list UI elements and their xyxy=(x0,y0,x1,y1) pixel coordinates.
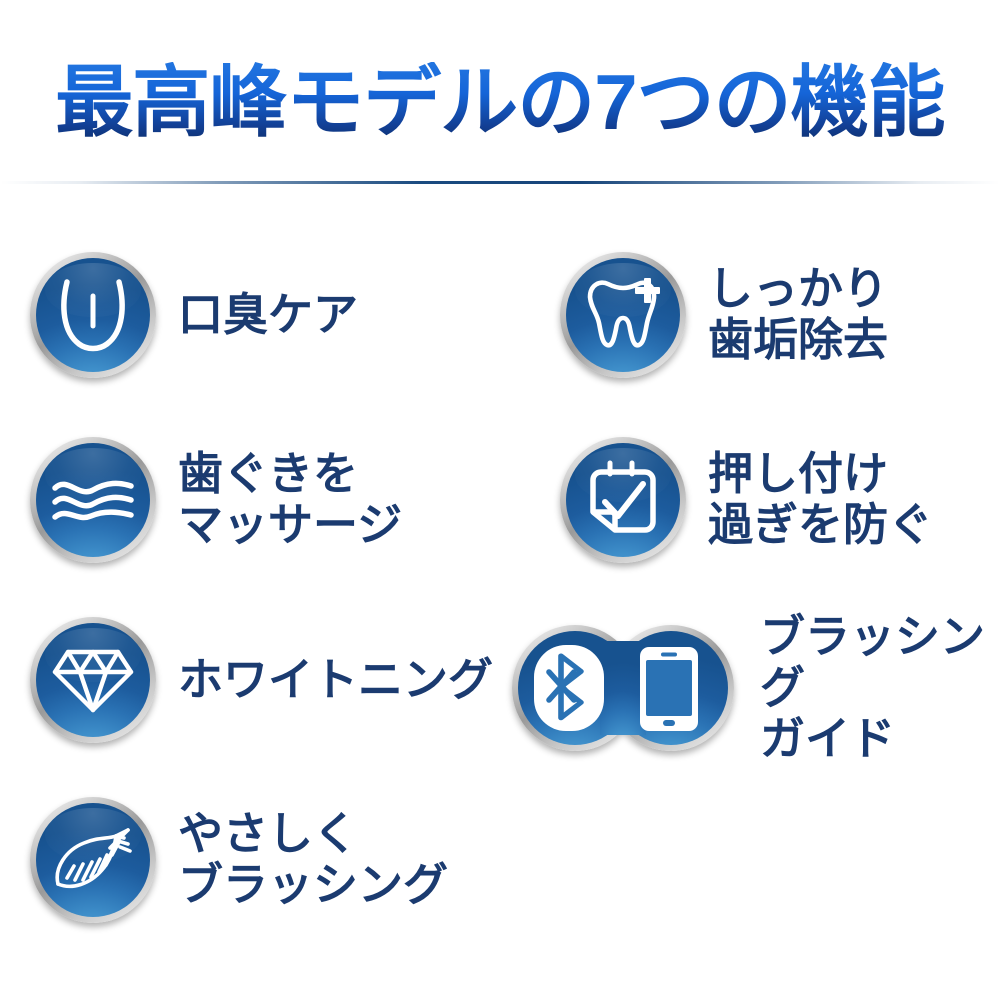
badge-breath-care[interactable] xyxy=(30,252,156,378)
page-title-text: 最高峰モデルの7つの機能 xyxy=(55,62,944,144)
waves-icon xyxy=(36,443,150,557)
badge-gum-massage[interactable] xyxy=(30,437,156,563)
tongue-icon xyxy=(36,258,150,372)
tooth-plus-icon xyxy=(566,258,680,372)
feature-plaque-removal[interactable]: しっかり 歯垢除去 xyxy=(560,252,888,378)
diamond-icon xyxy=(36,623,150,737)
feature-label-gum-massage: 歯ぐきを マッサージ xyxy=(178,449,402,551)
smartphone-icon xyxy=(640,647,698,731)
badge-whitening[interactable] xyxy=(30,617,156,743)
feature-label-plaque-removal: しっかり 歯垢除去 xyxy=(708,264,888,366)
feature-breath-care[interactable]: 口臭ケア xyxy=(30,252,358,378)
feature-label-whitening: ホワイトニング xyxy=(178,655,493,706)
feature-whitening[interactable]: ホワイトニング xyxy=(30,617,493,743)
feature-label-gentle-brushing: やさしく ブラッシング xyxy=(178,809,448,911)
feature-gentle-brushing[interactable]: やさしく ブラッシング xyxy=(30,797,448,923)
clipboard-check-icon xyxy=(566,443,680,557)
feature-label-brushing-guide: ブラッシング ガイド xyxy=(760,612,1000,765)
badge-gentle-brushing[interactable] xyxy=(30,797,156,923)
feature-brushing-guide[interactable]: ブラッシング ガイド xyxy=(512,612,1000,765)
feature-gum-massage[interactable]: 歯ぐきを マッサージ xyxy=(30,437,402,563)
badge-brushing-guide[interactable] xyxy=(512,625,734,751)
title-divider xyxy=(0,181,1000,184)
feature-label-pressure-control: 押し付け 過ぎを防ぐ xyxy=(708,449,933,551)
feature-label-breath-care: 口臭ケア xyxy=(178,290,358,341)
page-title: 最高峰モデルの7つの機能 xyxy=(0,62,1000,144)
badge-pressure-control[interactable] xyxy=(560,437,686,563)
feature-pressure-control[interactable]: 押し付け 過ぎを防ぐ xyxy=(560,437,933,563)
bluetooth-icon xyxy=(534,645,604,731)
badge-plaque-removal[interactable] xyxy=(560,252,686,378)
feather-icon xyxy=(36,803,150,917)
